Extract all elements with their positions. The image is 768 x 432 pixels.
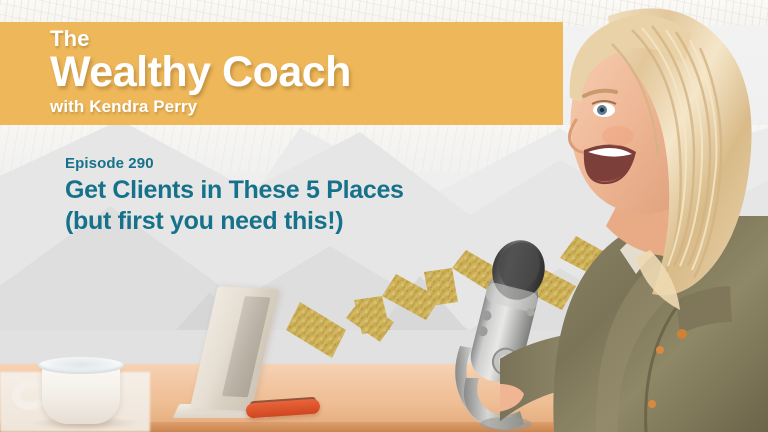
episode-number: Episode 290	[65, 155, 505, 172]
episode-info: Episode 290 Get Clients in These 5 Place…	[65, 155, 505, 236]
episode-title-line-2: (but first you need this!)	[65, 206, 505, 237]
episode-title-line-1: Get Clients in These 5 Places	[65, 176, 404, 204]
podcast-title: Wealthy Coach	[50, 51, 563, 95]
episode-cover-artwork: The Wealthy Coach with Kendra Perry Epis…	[0, 0, 768, 432]
brand-the-label: The	[50, 28, 563, 50]
episode-title: Get Clients in These 5 Places (but first…	[65, 175, 505, 236]
podcast-branding: The Wealthy Coach with Kendra Perry	[0, 22, 563, 125]
host-byline: with Kendra Perry	[50, 98, 563, 115]
mug-rim	[38, 357, 124, 374]
